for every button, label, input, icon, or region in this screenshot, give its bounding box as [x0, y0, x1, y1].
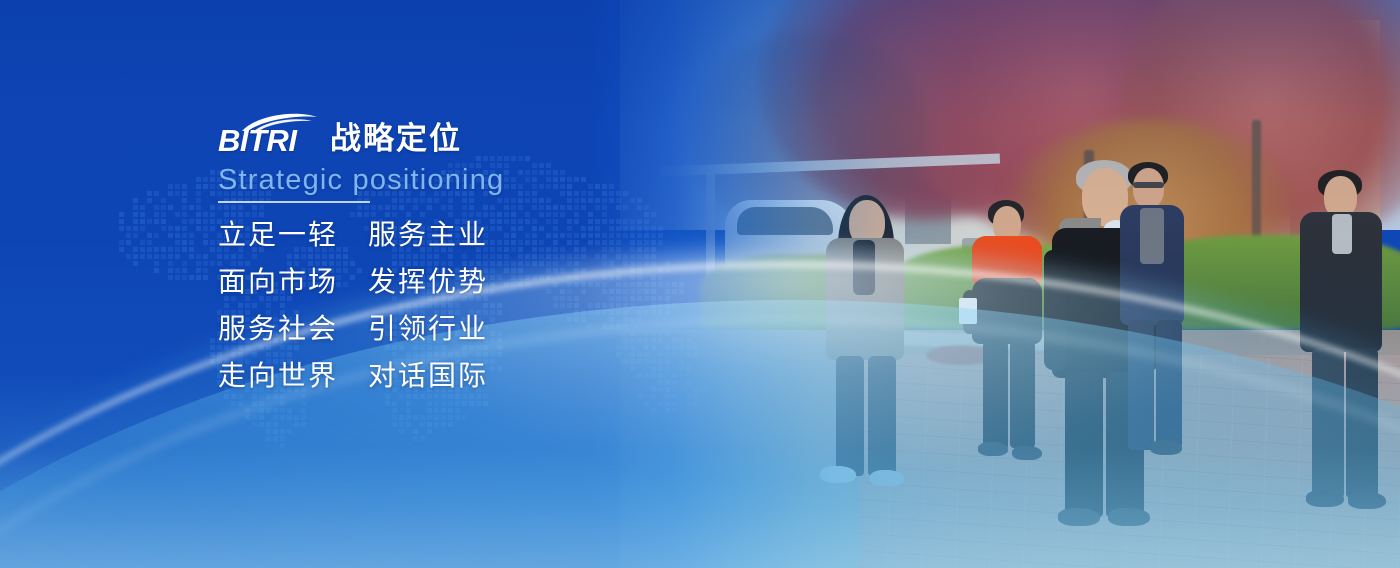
brand-subtitle-en: Strategic positioning — [218, 164, 738, 197]
divider-rule — [218, 201, 370, 203]
bottom-haze — [0, 448, 1400, 568]
bitri-strategic-positioning-banner: BITRI 战略定位 Strategic positioning 立足一轻 服务… — [0, 0, 1400, 568]
slogan-line: 服务社会 引领行业 — [218, 315, 738, 343]
slogan-line: 走向世界 对话国际 — [218, 362, 738, 390]
brand-title-cn: 战略定位 — [330, 123, 462, 156]
bitri-logo-text: BITRI — [218, 123, 296, 159]
slogan-line: 面向市场 发挥优势 — [218, 268, 738, 296]
slogan-line: 立足一轻 服务主业 — [218, 221, 738, 249]
brand-row: BITRI 战略定位 — [218, 108, 738, 156]
text-block: BITRI 战略定位 Strategic positioning 立足一轻 服务… — [218, 108, 738, 409]
bitri-logo: BITRI — [218, 112, 316, 156]
slogan-list: 立足一轻 服务主业面向市场 发挥优势服务社会 引领行业走向世界 对话国际 — [218, 221, 738, 390]
